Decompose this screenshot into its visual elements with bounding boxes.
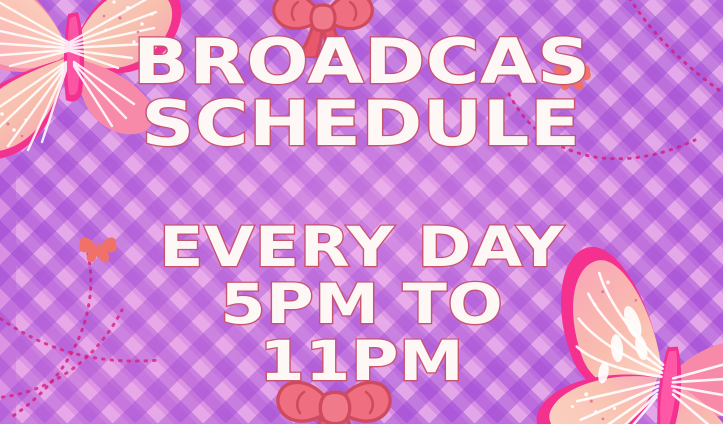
poster-text-stack: BROADCAS SCHEDULE EVERY DAY 5PM TO 11PM bbox=[0, 0, 723, 424]
schedule-frequency: EVERY DAY bbox=[159, 221, 564, 274]
page-title-line-1: BROADCAS bbox=[133, 32, 590, 92]
schedule-end-time: 11PM bbox=[259, 335, 464, 388]
broadcast-schedule-poster: BROADCAS SCHEDULE EVERY DAY 5PM TO 11PM bbox=[0, 0, 723, 424]
page-title-line-2: SCHEDULE bbox=[142, 94, 581, 154]
schedule-start-time: 5PM TO bbox=[220, 278, 503, 331]
